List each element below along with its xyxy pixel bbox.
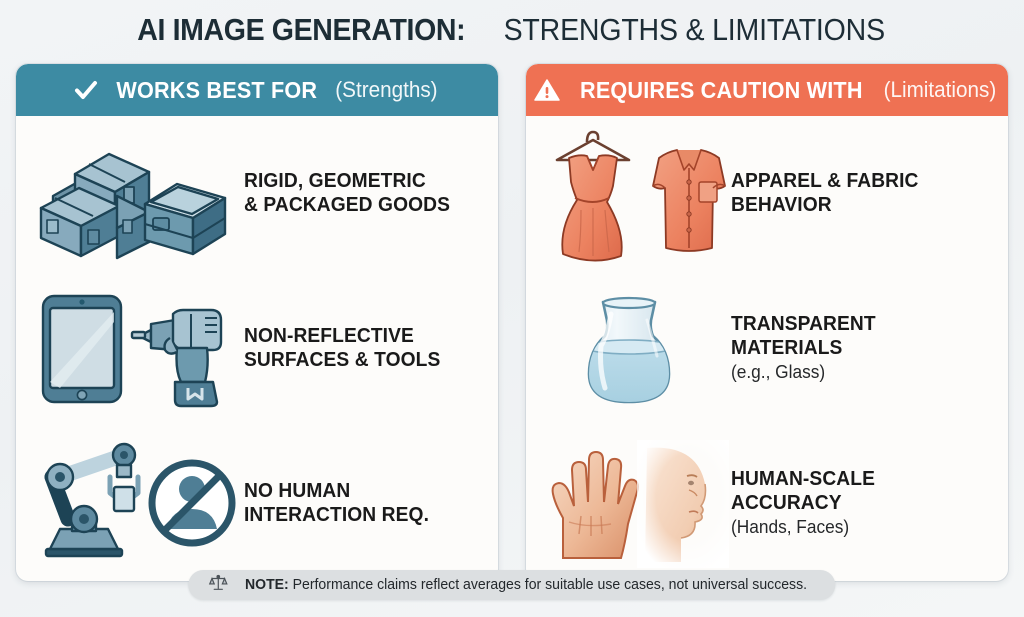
list-item-line1: NO HUMAN xyxy=(244,480,474,504)
list-item-text: NO HUMAN INTERACTION REQ. xyxy=(244,480,498,527)
list-item-line1: NON-REFLECTIVE xyxy=(244,325,474,349)
list-item-line2: ACCURACY xyxy=(731,492,983,516)
balance-scale-icon xyxy=(208,574,228,597)
panel-strengths: WORKS BEST FOR (Strengths) xyxy=(16,64,498,581)
dress-shirt-illustration xyxy=(526,124,731,264)
panel-limitations: REQUIRES CAUTION WITH (Limitations) xyxy=(526,64,1008,581)
list-item-subtext: (e.g., Glass) xyxy=(731,361,983,384)
list-item-line2: SURFACES & TOOLS xyxy=(244,349,474,373)
panel-limitations-header: REQUIRES CAUTION WITH (Limitations) xyxy=(526,64,1008,116)
hand-face-illustration xyxy=(526,434,731,574)
list-item-text: NON-REFLECTIVE SURFACES & TOOLS xyxy=(244,325,498,372)
page-title: AI IMAGE GENERATION:STRENGTHS & LIMITATI… xyxy=(0,12,1024,48)
list-item: NO HUMAN INTERACTION REQ. xyxy=(16,426,498,581)
panel-strengths-header-main: WORKS BEST FOR xyxy=(116,77,317,104)
list-item-text: APPAREL & FABRIC BEHAVIOR xyxy=(731,170,1008,217)
note-body: Performance claims reflect averages for … xyxy=(293,577,807,593)
panel-limitations-header-sub: (Limitations) xyxy=(884,77,997,103)
strengths-list: RIGID, GEOMETRIC & PACKAGED GOODS xyxy=(16,116,498,581)
title-light: STRENGTHS & LIMITATIONS xyxy=(503,12,884,48)
panel-strengths-header: WORKS BEST FOR (Strengths) xyxy=(16,64,498,116)
list-item-line1: APPAREL & FABRIC xyxy=(731,170,983,194)
note-label: NOTE: xyxy=(245,577,289,593)
list-item: TRANSPARENT MATERIALS (e.g., Glass) xyxy=(526,271,1008,426)
list-item-line1: HUMAN-SCALE xyxy=(731,468,983,492)
list-item-subtext: (Hands, Faces) xyxy=(731,516,983,539)
list-item-line2: & PACKAGED GOODS xyxy=(244,194,474,218)
list-item: APPAREL & FABRIC BEHAVIOR xyxy=(526,116,1008,271)
list-item-text: HUMAN-SCALE ACCURACY (Hands, Faces) xyxy=(731,468,1008,539)
panel-strengths-header-sub: (Strengths) xyxy=(336,77,438,103)
warning-triangle-icon xyxy=(534,77,560,103)
list-item-text: TRANSPARENT MATERIALS (e.g., Glass) xyxy=(731,313,1008,384)
infographic-canvas: AI IMAGE GENERATION:STRENGTHS & LIMITATI… xyxy=(0,0,1024,617)
glass-vase-illustration xyxy=(526,279,731,419)
note-banner: NOTE: Performance claims reflect average… xyxy=(188,570,835,600)
list-item: RIGID, GEOMETRIC & PACKAGED GOODS xyxy=(16,116,498,271)
panel-limitations-header-main: REQUIRES CAUTION WITH xyxy=(580,77,863,104)
list-item: NON-REFLECTIVE SURFACES & TOOLS xyxy=(16,271,498,426)
boxes-crate-illustration xyxy=(16,124,244,264)
list-item-text: RIGID, GEOMETRIC & PACKAGED GOODS xyxy=(244,170,498,217)
check-icon xyxy=(73,77,99,103)
list-item: HUMAN-SCALE ACCURACY (Hands, Faces) xyxy=(526,426,1008,581)
list-item-line1: TRANSPARENT xyxy=(731,313,983,337)
list-item-line2: BEHAVIOR xyxy=(731,194,983,218)
tablet-drill-illustration xyxy=(16,279,244,419)
list-item-line1: RIGID, GEOMETRIC xyxy=(244,170,474,194)
limitations-list: APPAREL & FABRIC BEHAVIOR xyxy=(526,116,1008,581)
title-strong: AI IMAGE GENERATION: xyxy=(137,12,465,48)
note-text: NOTE: Performance claims reflect average… xyxy=(245,577,807,593)
list-item-line2: MATERIALS xyxy=(731,337,983,361)
robot-arm-no-person-illustration xyxy=(16,434,244,574)
list-item-line2: INTERACTION REQ. xyxy=(244,504,474,528)
